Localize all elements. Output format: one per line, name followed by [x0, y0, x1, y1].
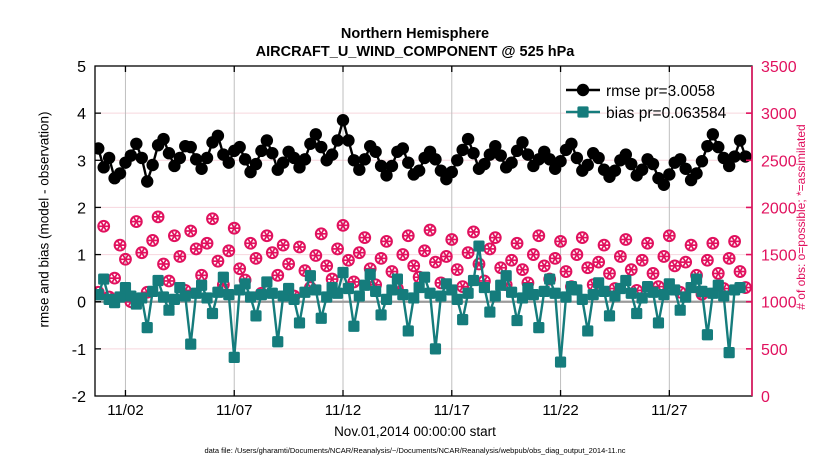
obs-marker — [430, 257, 441, 268]
bias-point — [550, 288, 561, 299]
obs-marker — [620, 234, 631, 245]
bias-point — [294, 317, 305, 328]
bias-point — [142, 322, 153, 333]
obs-marker — [136, 247, 147, 258]
bias-point — [533, 322, 544, 333]
obs-marker — [196, 270, 207, 281]
data-series-layer — [92, 0, 752, 368]
obs-marker — [571, 249, 582, 260]
bias-point — [734, 282, 745, 293]
bias-point — [332, 288, 343, 299]
bias-point — [212, 287, 223, 298]
bias-point — [675, 305, 686, 316]
obs-marker — [452, 264, 463, 275]
obs-marker — [147, 235, 158, 246]
chart-plot-svg: -2-1012345050010001500200025003000350011… — [0, 0, 830, 470]
y-tick-label-left: 3 — [77, 153, 86, 170]
rmse-point — [250, 158, 262, 170]
x-tick-label: 11/22 — [542, 402, 578, 419]
bias-point — [669, 284, 680, 295]
obs-marker — [245, 238, 256, 249]
rmse-point — [261, 134, 273, 146]
rmse-point — [359, 153, 371, 165]
y-tick-label-right: 1000 — [761, 295, 797, 312]
obs-marker — [707, 238, 718, 249]
bias-point — [430, 343, 441, 354]
obs-marker — [158, 259, 169, 270]
bias-point — [598, 286, 609, 297]
bias-point — [740, 0, 751, 11]
rmse-point — [456, 144, 468, 156]
obs-marker — [528, 249, 539, 260]
obs-marker — [332, 244, 343, 255]
y-tick-label-right: 0 — [761, 389, 770, 406]
obs-marker — [354, 247, 365, 258]
rmse-point — [201, 152, 213, 164]
bias-point — [452, 294, 463, 305]
obs-marker — [713, 268, 724, 279]
y-tick-label-left: 1 — [77, 248, 86, 265]
bias-point — [272, 336, 283, 347]
y-tick-label-right: 2500 — [761, 153, 797, 170]
y-tick-label-right: 3500 — [761, 59, 797, 76]
bias-point — [582, 325, 593, 336]
bias-point — [250, 310, 261, 321]
obs-marker — [185, 226, 196, 237]
rmse-point — [707, 128, 719, 140]
rmse-point — [315, 141, 327, 153]
bias-point — [245, 291, 256, 302]
rmse-point — [277, 156, 289, 168]
bias-point — [637, 292, 648, 303]
bias-point — [147, 286, 158, 297]
bias-point — [702, 329, 713, 340]
legend-label: bias pr=0.063584 — [606, 105, 727, 122]
bias-point — [229, 352, 240, 363]
obs-marker — [343, 255, 354, 266]
bias-point — [256, 289, 267, 300]
bias-point — [435, 290, 446, 301]
bias-point — [354, 290, 365, 301]
obs-marker — [131, 216, 142, 227]
bias-point — [365, 269, 376, 280]
rmse-point — [712, 141, 724, 153]
obs-marker — [359, 232, 370, 243]
obs-marker — [272, 270, 283, 281]
obs-marker — [702, 255, 713, 266]
rmse-point — [592, 152, 604, 164]
y-tick-label-left: 2 — [77, 200, 86, 217]
bias-point — [473, 240, 484, 251]
bias-point — [468, 275, 479, 286]
bias-point — [218, 272, 229, 283]
obs-marker — [408, 260, 419, 271]
bias-point — [484, 306, 495, 317]
bias-point — [169, 294, 180, 305]
rmse-point — [130, 138, 142, 150]
y-tick-label-left: 0 — [77, 295, 86, 312]
bias-point — [267, 288, 278, 299]
obs-marker — [267, 247, 278, 258]
bias-point — [316, 313, 327, 324]
obs-marker — [735, 266, 746, 277]
y-tick-label-left: 5 — [77, 59, 86, 76]
rmse-point — [125, 149, 137, 161]
x-tick-label: 11/27 — [651, 402, 687, 419]
legend-marker-circle — [577, 84, 589, 96]
obs-marker — [213, 256, 224, 267]
y-tick-label-right: 500 — [761, 342, 788, 359]
rmse-point — [429, 153, 441, 165]
y-tick-label-left: -1 — [72, 342, 86, 359]
obs-marker — [321, 260, 332, 271]
bias-point — [490, 290, 501, 301]
obs-marker — [397, 249, 408, 260]
bias-point — [386, 284, 397, 295]
obs-marker — [425, 225, 436, 236]
obs-marker — [294, 242, 305, 253]
obs-marker — [403, 230, 414, 241]
rmse-point — [185, 141, 197, 153]
rmse-point — [554, 155, 566, 167]
rmse-point — [146, 159, 158, 171]
rmse-point — [223, 156, 235, 168]
bias-point — [691, 273, 702, 284]
legend-marker-square — [577, 106, 588, 117]
bias-point — [283, 283, 294, 294]
obs-marker — [234, 263, 245, 274]
bias-point — [414, 282, 425, 293]
obs-marker — [463, 247, 474, 258]
bias-point — [457, 314, 468, 325]
rmse-point — [467, 147, 479, 159]
rmse-point — [114, 167, 126, 179]
rmse-point — [386, 160, 398, 172]
obs-marker — [164, 276, 175, 287]
bias-point — [462, 288, 473, 299]
bias-point — [98, 273, 109, 284]
bias-point — [375, 309, 386, 320]
bias-point — [370, 286, 381, 297]
rmse-point — [163, 147, 175, 159]
bias-point — [479, 282, 490, 293]
obs-marker — [261, 230, 272, 241]
bias-point — [724, 347, 735, 358]
rmse-point — [195, 163, 207, 175]
rmse-point — [701, 140, 713, 152]
rmse-point — [446, 166, 458, 178]
obs-marker — [582, 262, 593, 273]
bias-point — [696, 286, 707, 297]
bias-point — [604, 310, 615, 321]
rmse-point — [331, 134, 343, 146]
obs-marker — [278, 240, 289, 251]
obs-marker — [680, 257, 691, 268]
obs-marker — [626, 264, 637, 275]
bias-point — [136, 292, 147, 303]
rmse-point — [505, 156, 517, 168]
bias-point — [152, 275, 163, 286]
obs-marker — [468, 227, 479, 238]
bias-point — [305, 270, 316, 281]
obs-marker — [512, 238, 523, 249]
obs-marker — [484, 244, 495, 255]
obs-marker — [207, 213, 218, 224]
obs-marker — [637, 255, 648, 266]
x-tick-label: 11/02 — [107, 402, 143, 419]
bias-point — [185, 339, 196, 350]
obs-marker — [533, 230, 544, 241]
x-tick-label: 11/17 — [434, 402, 470, 419]
bias-point — [408, 292, 419, 303]
rmse-point — [369, 146, 381, 158]
obs-marker — [191, 244, 202, 255]
rmse-point — [397, 142, 409, 154]
rmse-point — [310, 128, 322, 140]
obs-marker — [539, 260, 550, 271]
bias-point — [299, 287, 310, 298]
bias-point — [555, 356, 566, 367]
bias-point — [544, 273, 555, 284]
obs-marker — [648, 268, 659, 279]
obs-marker — [283, 259, 294, 270]
obs-marker — [153, 211, 164, 222]
rmse-point — [690, 167, 702, 179]
bias-point — [713, 280, 724, 291]
bias-point — [528, 289, 539, 300]
obs-marker — [490, 232, 501, 243]
chart-legend[interactable]: rmse pr=3.0058bias pr=0.063584 — [566, 83, 727, 122]
bias-point — [240, 278, 251, 289]
bias-point — [158, 291, 169, 302]
bias-point — [620, 275, 631, 286]
rmse-point — [136, 152, 148, 164]
rmse-point — [233, 141, 245, 153]
bias-point — [647, 287, 658, 298]
bias-point — [261, 276, 272, 287]
bias-point — [163, 305, 174, 316]
bias-point — [506, 287, 517, 298]
bias-point — [180, 290, 191, 301]
bias-point — [511, 315, 522, 326]
obs-marker — [604, 268, 615, 279]
rmse-point — [625, 158, 637, 170]
bias-point — [626, 288, 637, 299]
bias-point — [223, 289, 234, 300]
rmse-point — [462, 133, 474, 145]
bias-point — [337, 267, 348, 278]
x-tick-label: 11/07 — [216, 402, 252, 419]
y-tick-label-right: 2000 — [761, 200, 797, 217]
obs-marker — [593, 257, 604, 268]
rmse-point — [728, 150, 740, 162]
rmse-point — [402, 156, 414, 168]
rmse-point — [647, 158, 659, 170]
bias-point — [207, 308, 218, 319]
rmse-point — [141, 175, 153, 187]
obs-marker — [441, 251, 452, 262]
obs-marker — [202, 238, 213, 249]
y-tick-label-right: 3000 — [761, 106, 797, 123]
obs-marker — [381, 236, 392, 247]
rmse-point — [679, 163, 691, 175]
rmse-point — [342, 134, 354, 146]
rmse-point — [299, 153, 311, 165]
y-tick-label-right: 1500 — [761, 248, 797, 265]
rmse-point — [92, 142, 104, 154]
obs-marker — [658, 251, 669, 262]
bias-point — [577, 294, 588, 305]
rmse-point — [495, 149, 507, 161]
rmse-point — [582, 159, 594, 171]
obs-marker — [599, 240, 610, 251]
rmse-point — [663, 168, 675, 180]
obs-marker — [577, 232, 588, 243]
bias-point — [560, 291, 571, 302]
rmse-point — [103, 152, 115, 164]
rmse-point — [157, 133, 169, 145]
rmse-point — [565, 138, 577, 150]
bias-point — [359, 280, 370, 291]
bias-point — [501, 270, 512, 281]
bias-point — [424, 288, 435, 299]
obs-marker — [642, 238, 653, 249]
bias-point — [196, 280, 207, 291]
rmse-point — [734, 134, 746, 146]
obs-marker — [686, 240, 697, 251]
legend-label: rmse pr=3.0058 — [606, 83, 715, 100]
rmse-point — [571, 152, 583, 164]
bias-point — [658, 289, 669, 300]
obs-marker — [506, 255, 517, 266]
rmse-point — [522, 148, 534, 160]
obs-marker — [517, 264, 528, 275]
rmse-point — [413, 164, 425, 176]
bias-point — [201, 292, 212, 303]
y-tick-label-left: 4 — [77, 106, 86, 123]
bias-point — [392, 273, 403, 284]
bias-point — [348, 321, 359, 332]
bias-point — [588, 289, 599, 300]
rmse-point — [266, 147, 278, 159]
rmse-point — [174, 152, 186, 164]
rmse-point — [516, 136, 528, 148]
rmse-point — [239, 153, 251, 165]
bias-point — [539, 286, 550, 297]
rmse-point — [337, 114, 349, 126]
bias-point — [653, 317, 664, 328]
bias-point — [288, 294, 299, 305]
bias-point — [419, 272, 430, 283]
rmse-point — [696, 155, 708, 167]
obs-marker — [109, 273, 120, 284]
bias-point — [93, 289, 104, 300]
bias-point — [403, 325, 414, 336]
rmse-point — [326, 148, 338, 160]
bias-point — [718, 290, 729, 301]
obs-marker — [316, 228, 327, 239]
bias-point — [343, 283, 354, 294]
rmse-point — [212, 130, 224, 142]
obs-marker — [669, 260, 680, 271]
obs-marker — [729, 236, 740, 247]
obs-marker — [561, 266, 572, 277]
obs-marker — [615, 251, 626, 262]
obs-marker — [169, 230, 180, 241]
bias-point — [631, 308, 642, 319]
obs-marker — [98, 221, 109, 232]
y-tick-label-left: -2 — [72, 389, 86, 406]
obs-marker — [115, 240, 126, 251]
bias-point — [397, 289, 408, 300]
obs-marker — [310, 250, 321, 261]
bias-point — [310, 284, 321, 295]
x-tick-label: 11/12 — [325, 402, 361, 419]
obs-marker — [174, 251, 185, 262]
chart-root: Northern Hemisphere AIRCRAFT_U_WIND_COMP… — [0, 0, 830, 470]
